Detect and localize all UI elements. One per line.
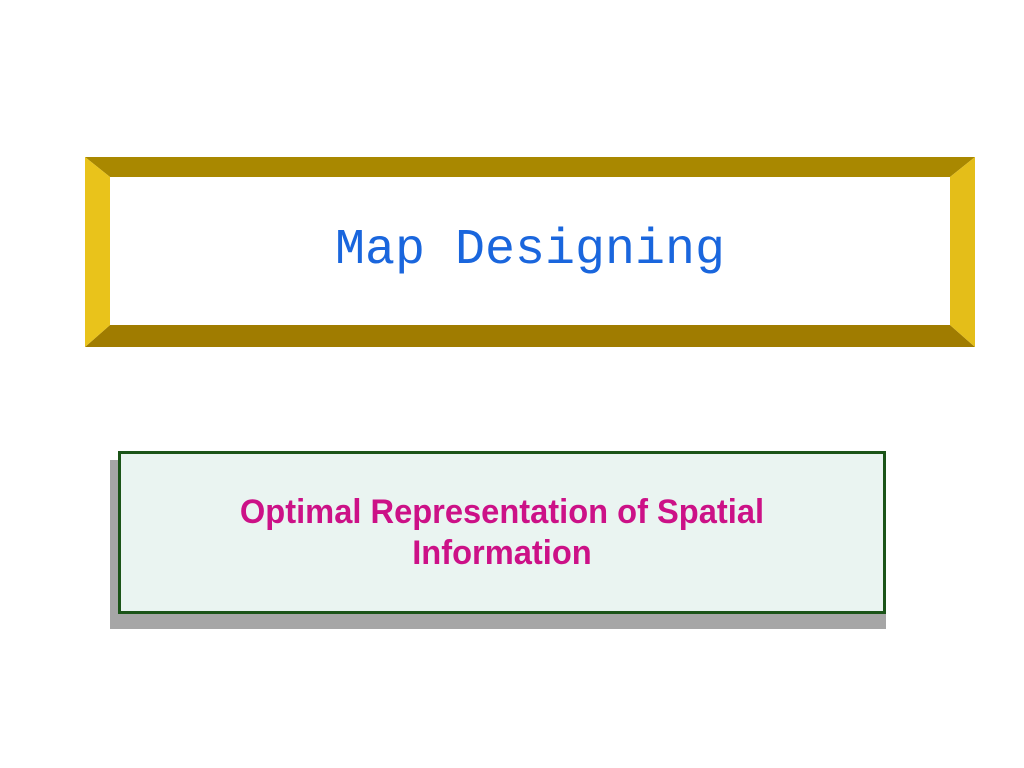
title-frame: Map Designing xyxy=(85,157,975,347)
frame-bevel-top xyxy=(85,157,975,177)
frame-bevel-left xyxy=(85,157,110,347)
subtitle-box: Optimal Representation of Spatial Inform… xyxy=(118,451,886,614)
subtitle-line-2: Information xyxy=(412,534,592,572)
subtitle-text: Optimal Representation of Spatial Inform… xyxy=(166,492,838,572)
frame-bevel-right xyxy=(950,157,975,347)
subtitle-container: Optimal Representation of Spatial Inform… xyxy=(110,451,894,629)
slide-canvas: Map Designing Optimal Representation of … xyxy=(0,0,1024,768)
subtitle-line-1: Optimal Representation of Spatial xyxy=(240,493,764,531)
title-frame-inner: Map Designing xyxy=(110,177,950,325)
slide-title: Map Designing xyxy=(335,226,725,276)
frame-bevel-bottom xyxy=(85,325,975,347)
